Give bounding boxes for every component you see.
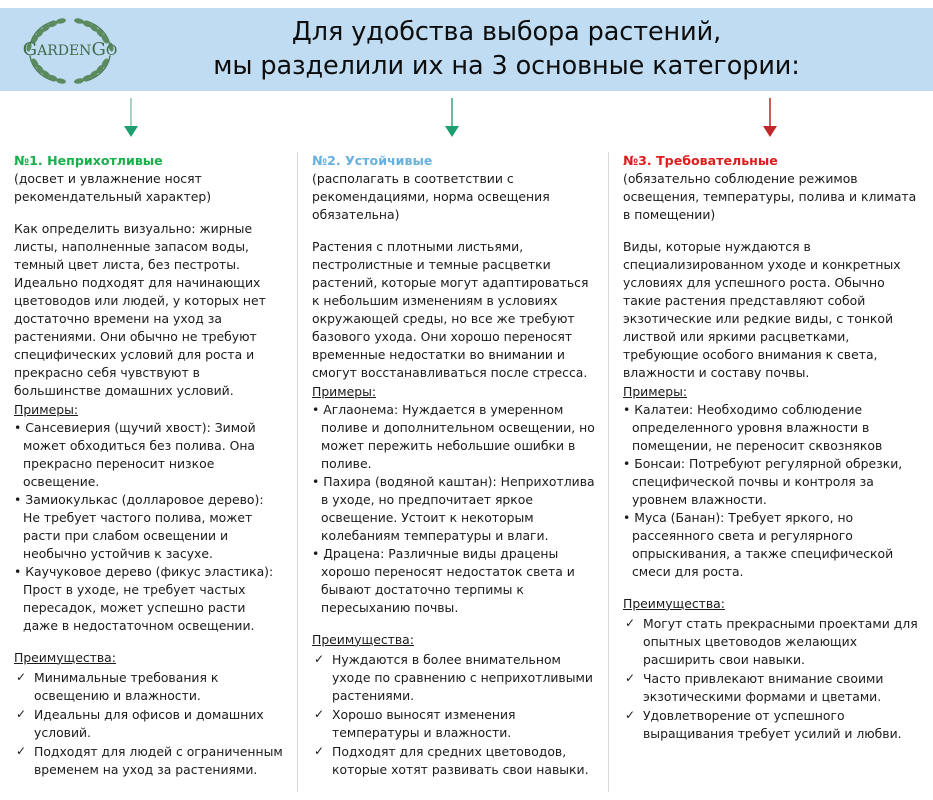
- check-icon: ✓: [16, 669, 26, 686]
- column-2-title: №2. Устойчивые: [312, 152, 596, 169]
- list-item: Драцена: Различные виды драцены хорошо п…: [312, 545, 596, 617]
- list-item-label: Минимальные требования к освещению и вла…: [34, 670, 218, 703]
- page-title: Для удобства выбора растений, мы раздели…: [140, 16, 933, 83]
- list-item-label: Удовлетворение от успешного выращивания …: [643, 708, 902, 741]
- column-3-benefits-label: Преимущества:: [623, 595, 921, 613]
- column-1-description: Как определить визуально: жирные листы, …: [14, 220, 283, 400]
- column-3-title: №3. Требовательные: [623, 152, 921, 169]
- list-item: ✓Могут стать прекрасными проектами для о…: [623, 615, 921, 669]
- column-2-benefits-list: ✓Нуждаются в более внимательном уходе по…: [312, 651, 596, 779]
- column-3-examples-label: Примеры:: [623, 383, 921, 401]
- list-item: Сансевиерия (щучий хвост): Зимой может о…: [14, 419, 283, 491]
- list-item: Каучуковое дерево (фикус эластика): Прос…: [14, 563, 283, 635]
- column-2-examples-list: Аглаонема: Нуждается в умеренном поливе …: [312, 401, 596, 617]
- page-title-line-1: Для удобства выбора растений,: [140, 16, 873, 50]
- header-banner: GARDENGO Для удобства выбора растений, м…: [0, 8, 933, 91]
- list-item-label: Хорошо выносят изменения температуры и в…: [332, 707, 516, 740]
- gardengo-logo-text: GARDENGO: [23, 39, 118, 60]
- check-icon: ✓: [16, 706, 26, 723]
- list-item: Пахира (водяной каштан): Неприхотлива в …: [312, 473, 596, 545]
- column-1-subtitle: (досвет и увлажнение носят рекомендатель…: [14, 170, 283, 206]
- check-icon: ✓: [625, 707, 635, 724]
- arrow-down-column-1: [124, 98, 138, 136]
- column-2-examples-label: Примеры:: [312, 383, 596, 401]
- arrow-down-column-2: [445, 98, 459, 136]
- list-item-label: Идеальны для офисов и домашних условий.: [34, 707, 264, 740]
- list-item: Калатеи: Необходимо соблюдение определен…: [623, 401, 921, 455]
- list-item-label: Подходят для средних цветоводов, которые…: [332, 744, 589, 777]
- column-1-title: №1. Неприхотливые: [14, 152, 283, 169]
- category-column-3: №3. Требовательные (обязательно соблюден…: [608, 152, 933, 792]
- column-3-benefits-list: ✓Могут стать прекрасными проектами для о…: [623, 615, 921, 743]
- gardengo-logo: GARDENGO: [0, 8, 140, 91]
- check-icon: ✓: [625, 670, 635, 687]
- column-1-benefits-label: Преимущества:: [14, 649, 283, 667]
- list-item: ✓Часто привлекают внимание своими экзоти…: [623, 670, 921, 706]
- list-item-label: Часто привлекают внимание своими экзотич…: [643, 671, 883, 704]
- column-1-benefits-list: ✓Минимальные требования к освещению и вл…: [14, 669, 283, 779]
- check-icon: ✓: [16, 743, 26, 760]
- list-item: Аглаонема: Нуждается в умеренном поливе …: [312, 401, 596, 473]
- list-item: Муса (Банан): Требует яркого, но рассеян…: [623, 509, 921, 581]
- check-icon: ✓: [314, 743, 324, 760]
- list-item: Замиокулькас (долларовое дерево): Не тре…: [14, 491, 283, 563]
- column-1-examples-label: Примеры:: [14, 401, 283, 419]
- page-title-line-2: мы разделили их на 3 основные категории:: [140, 50, 873, 84]
- list-item: Бонсаи: Потребуют регулярной обрезки, сп…: [623, 455, 921, 509]
- check-icon: ✓: [314, 706, 324, 723]
- column-3-description: Виды, которые нуждаются в специализирова…: [623, 238, 921, 382]
- list-item: ✓Подходят для людей с ограниченным време…: [14, 743, 283, 779]
- list-item: ✓Минимальные требования к освещению и вл…: [14, 669, 283, 705]
- check-icon: ✓: [314, 651, 324, 668]
- category-columns: №1. Неприхотливые (досвет и увлажнение н…: [0, 152, 933, 792]
- list-item-label: Нуждаются в более внимательном уходе по …: [332, 652, 593, 703]
- list-item: ✓Нуждаются в более внимательном уходе по…: [312, 651, 596, 705]
- list-item: ✓Хорошо выносят изменения температуры и …: [312, 706, 596, 742]
- gardengo-logo-icon: GARDENGO: [8, 12, 132, 88]
- category-column-1: №1. Неприхотливые (досвет и увлажнение н…: [0, 152, 297, 792]
- list-item: ✓Удовлетворение от успешного выращивания…: [623, 707, 921, 743]
- column-3-subtitle: (обязательно соблюдение режимов освещени…: [623, 170, 921, 224]
- category-column-2: №2. Устойчивые (располагать в соответств…: [297, 152, 608, 792]
- column-2-subtitle: (располагать в соответствии с рекомендац…: [312, 170, 596, 224]
- check-icon: ✓: [625, 615, 635, 632]
- list-item: ✓Идеальны для офисов и домашних условий.: [14, 706, 283, 742]
- column-2-benefits-label: Преимущества:: [312, 631, 596, 649]
- list-item-label: Подходят для людей с ограниченным времен…: [34, 744, 283, 777]
- column-2-description: Растения с плотными листьями, пестролист…: [312, 238, 596, 382]
- list-item-label: Могут стать прекрасными проектами для оп…: [643, 616, 918, 667]
- column-1-examples-list: Сансевиерия (щучий хвост): Зимой может о…: [14, 419, 283, 635]
- list-item: ✓Подходят для средних цветоводов, которы…: [312, 743, 596, 779]
- arrow-down-column-3: [763, 98, 777, 136]
- column-3-examples-list: Калатеи: Необходимо соблюдение определен…: [623, 401, 921, 581]
